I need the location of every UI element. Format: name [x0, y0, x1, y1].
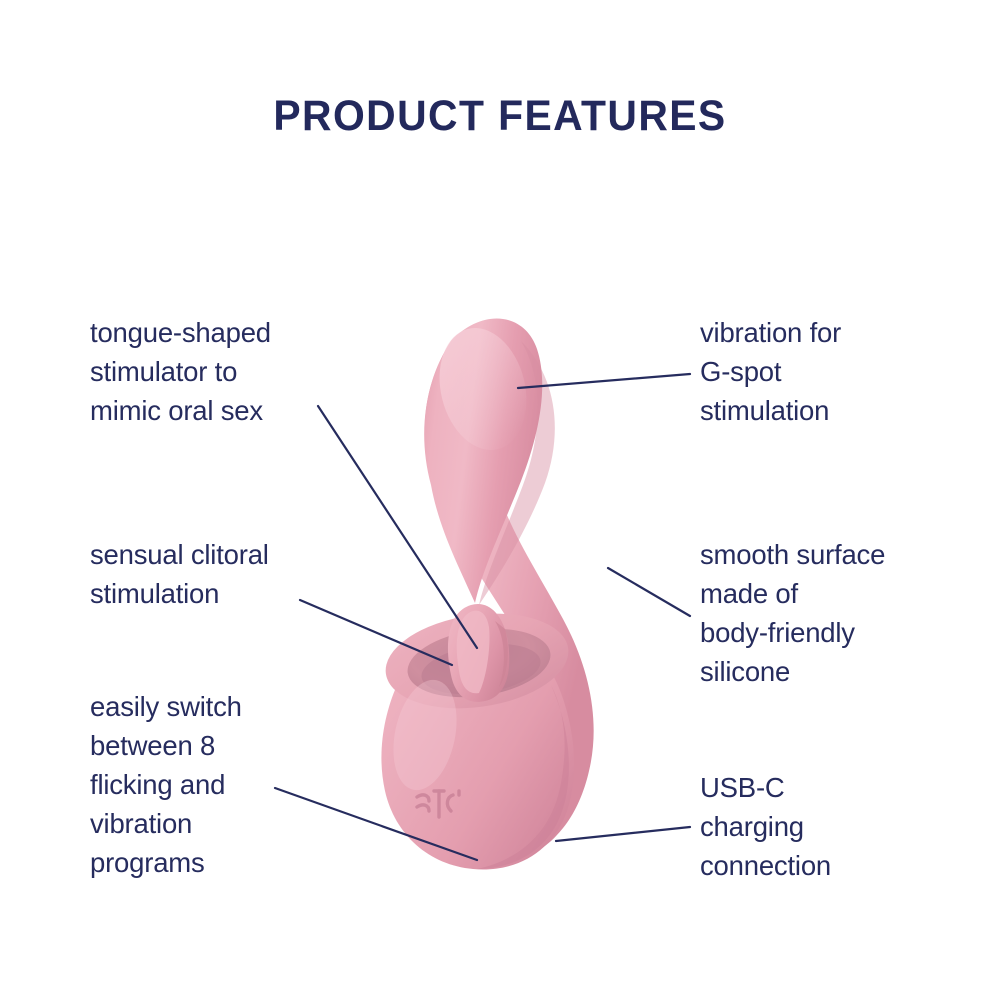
- callout-gspot-vibration: vibration for G-spot stimulation: [700, 313, 980, 430]
- product-tongue-element: [448, 604, 509, 702]
- product-illustration: [355, 285, 655, 880]
- callout-sensual-clitoral-stimulation: sensual clitoral stimulation: [90, 535, 370, 613]
- product-features-infographic: PRODUCT FEATURES: [0, 0, 1000, 1000]
- page-title: PRODUCT FEATURES: [25, 92, 975, 141]
- product-body: [379, 603, 574, 870]
- callout-usb-c-charging: USB-C charging connection: [700, 768, 980, 885]
- callout-tongue-shaped-stimulator: tongue-shaped stimulator to mimic oral s…: [90, 313, 370, 430]
- callout-flicking-vibration-programs: easily switch between 8 flicking and vib…: [90, 687, 370, 882]
- callout-body-friendly-silicone: smooth surface made of body-friendly sil…: [700, 535, 980, 691]
